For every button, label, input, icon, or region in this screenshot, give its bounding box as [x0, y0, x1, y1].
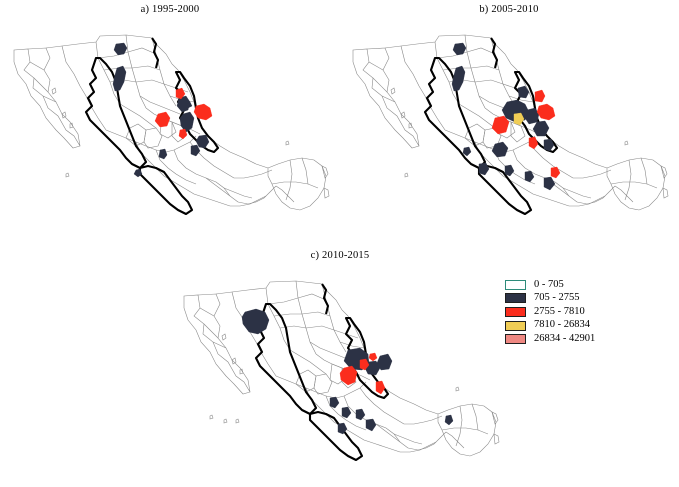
map-legend: 0 - 705 705 - 2755 2755 - 7810 7810 - 26… — [505, 278, 675, 346]
panel-b-map — [339, 18, 679, 244]
legend-label-0-705: 0 - 705 — [534, 280, 564, 291]
map-panel-b: b) 2005-2010 — [339, 4, 679, 244]
legend-label-26834-42901: 26834 - 42901 — [534, 334, 595, 345]
mexico-map-b — [339, 18, 679, 244]
figure-canvas: a) 1995-2000 — [0, 0, 679, 487]
mexico-map-a — [0, 18, 340, 244]
panel-b-title: b) 2005-2010 — [339, 4, 679, 15]
panel-c-map — [170, 264, 510, 487]
panel-c-title: c) 2010-2015 — [170, 250, 510, 261]
map-b-class-2755-7810 — [492, 90, 560, 178]
legend-label-7810-26834: 7810 - 26834 — [534, 320, 590, 331]
legend-swatch-705-2755 — [505, 293, 526, 303]
panel-a-map — [0, 18, 340, 244]
legend-item: 0 - 705 — [505, 278, 675, 292]
legend-swatch-26834-42901 — [505, 334, 526, 344]
mexico-map-c — [170, 264, 510, 487]
legend-item: 7810 - 26834 — [505, 319, 675, 333]
legend-item: 705 - 2755 — [505, 292, 675, 306]
panel-a-title: a) 1995-2000 — [0, 4, 340, 15]
legend-item: 26834 - 42901 — [505, 332, 675, 346]
legend-label-705-2755: 705 - 2755 — [534, 293, 580, 304]
map-a-highlight-boundary — [86, 38, 218, 214]
legend-label-2755-7810: 2755 - 7810 — [534, 307, 585, 318]
legend-swatch-7810-26834 — [505, 321, 526, 331]
map-panel-c: c) 2010-2015 — [170, 250, 510, 487]
legend-swatch-0-705 — [505, 280, 526, 290]
legend-swatch-2755-7810 — [505, 307, 526, 317]
legend-item: 2755 - 7810 — [505, 305, 675, 319]
map-panel-a: a) 1995-2000 — [0, 4, 340, 244]
